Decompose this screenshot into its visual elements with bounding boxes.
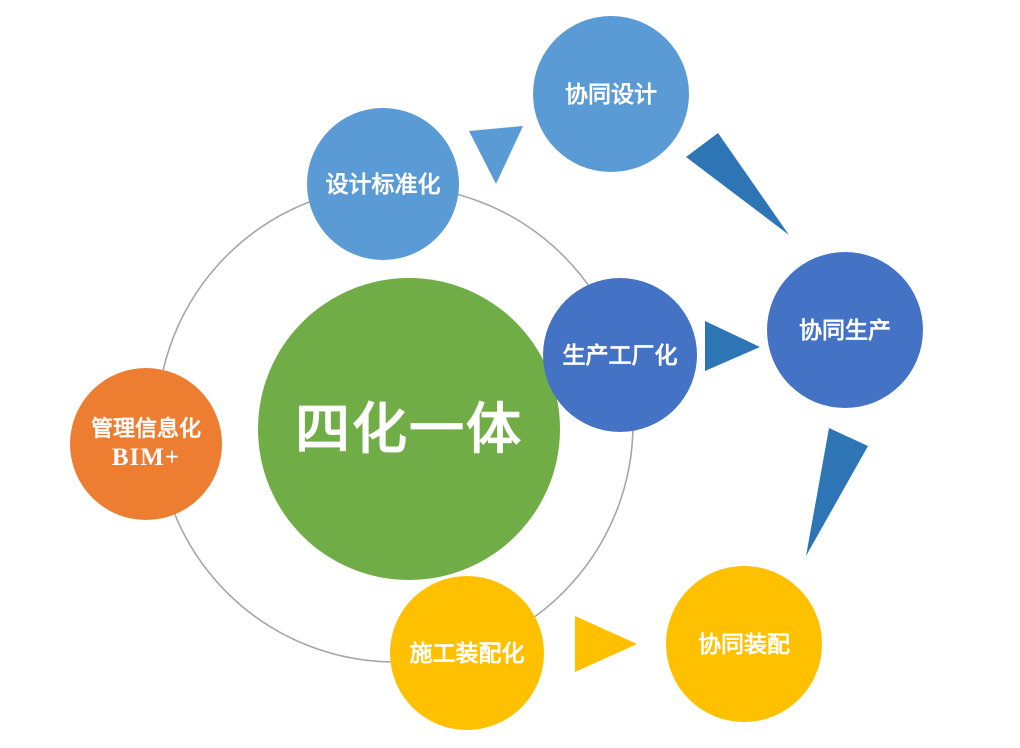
arrow-assembly-construction-to-collab-assembly — [575, 616, 637, 672]
node-mgmt-info-label-latin: BIM+ — [112, 442, 180, 473]
node-assembly-construction-label: 施工装配化 — [410, 639, 525, 668]
node-factory-production-label: 生产工厂化 — [563, 341, 678, 370]
core-node-label: 四化一体 — [295, 395, 523, 464]
node-collab-design[interactable]: 协同设计 — [533, 16, 689, 172]
node-mgmt-info-label-cn: 管理信息化 — [91, 415, 201, 443]
node-assembly-construction[interactable]: 施工装配化 — [390, 576, 544, 730]
core-node[interactable]: 四化一体 — [258, 278, 560, 580]
node-collab-production[interactable]: 协同生产 — [767, 252, 923, 408]
node-collab-production-label: 协同生产 — [799, 316, 891, 345]
arrow-design-standard-to-collab-design — [469, 126, 523, 184]
arrow-collab-production-to-collab-assembly — [806, 428, 868, 556]
node-design-standard-label: 设计标准化 — [326, 170, 441, 199]
node-mgmt-info[interactable]: 管理信息化 BIM+ — [70, 368, 222, 520]
node-collab-assembly[interactable]: 协同装配 — [666, 566, 822, 722]
node-collab-design-label: 协同设计 — [565, 80, 657, 109]
node-factory-production[interactable]: 生产工厂化 — [543, 278, 697, 432]
arrow-collab-design-to-collab-production — [686, 133, 789, 235]
diagram-canvas: 四化一体 设计标准化 管理信息化 BIM+ 生产工厂化 施工装配化 协同设计 协… — [0, 0, 1020, 748]
node-design-standard[interactable]: 设计标准化 — [307, 108, 459, 260]
node-collab-assembly-label: 协同装配 — [698, 630, 790, 659]
arrow-factory-production-to-collab-production — [705, 321, 760, 371]
